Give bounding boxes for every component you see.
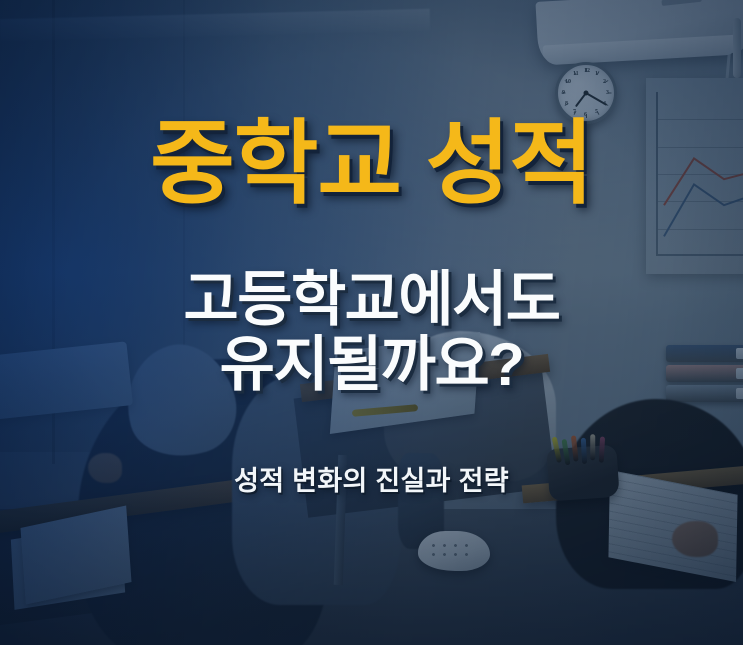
subtitle-line-1: 고등학교에서도 xyxy=(184,266,560,333)
text-overlay: 중학교 성적 고등학교에서도 유지될까요? 성적 변화의 진실과 전략 xyxy=(0,0,743,645)
thumbnail-canvas: 121234567891011 xyxy=(0,0,743,645)
subtitle: 고등학교에서도 유지될까요? xyxy=(0,267,743,398)
tagline: 성적 변화의 진실과 전략 xyxy=(0,459,743,498)
subtitle-line-2: 유지될까요? xyxy=(0,332,743,397)
page-title: 중학교 성적 xyxy=(0,116,743,213)
